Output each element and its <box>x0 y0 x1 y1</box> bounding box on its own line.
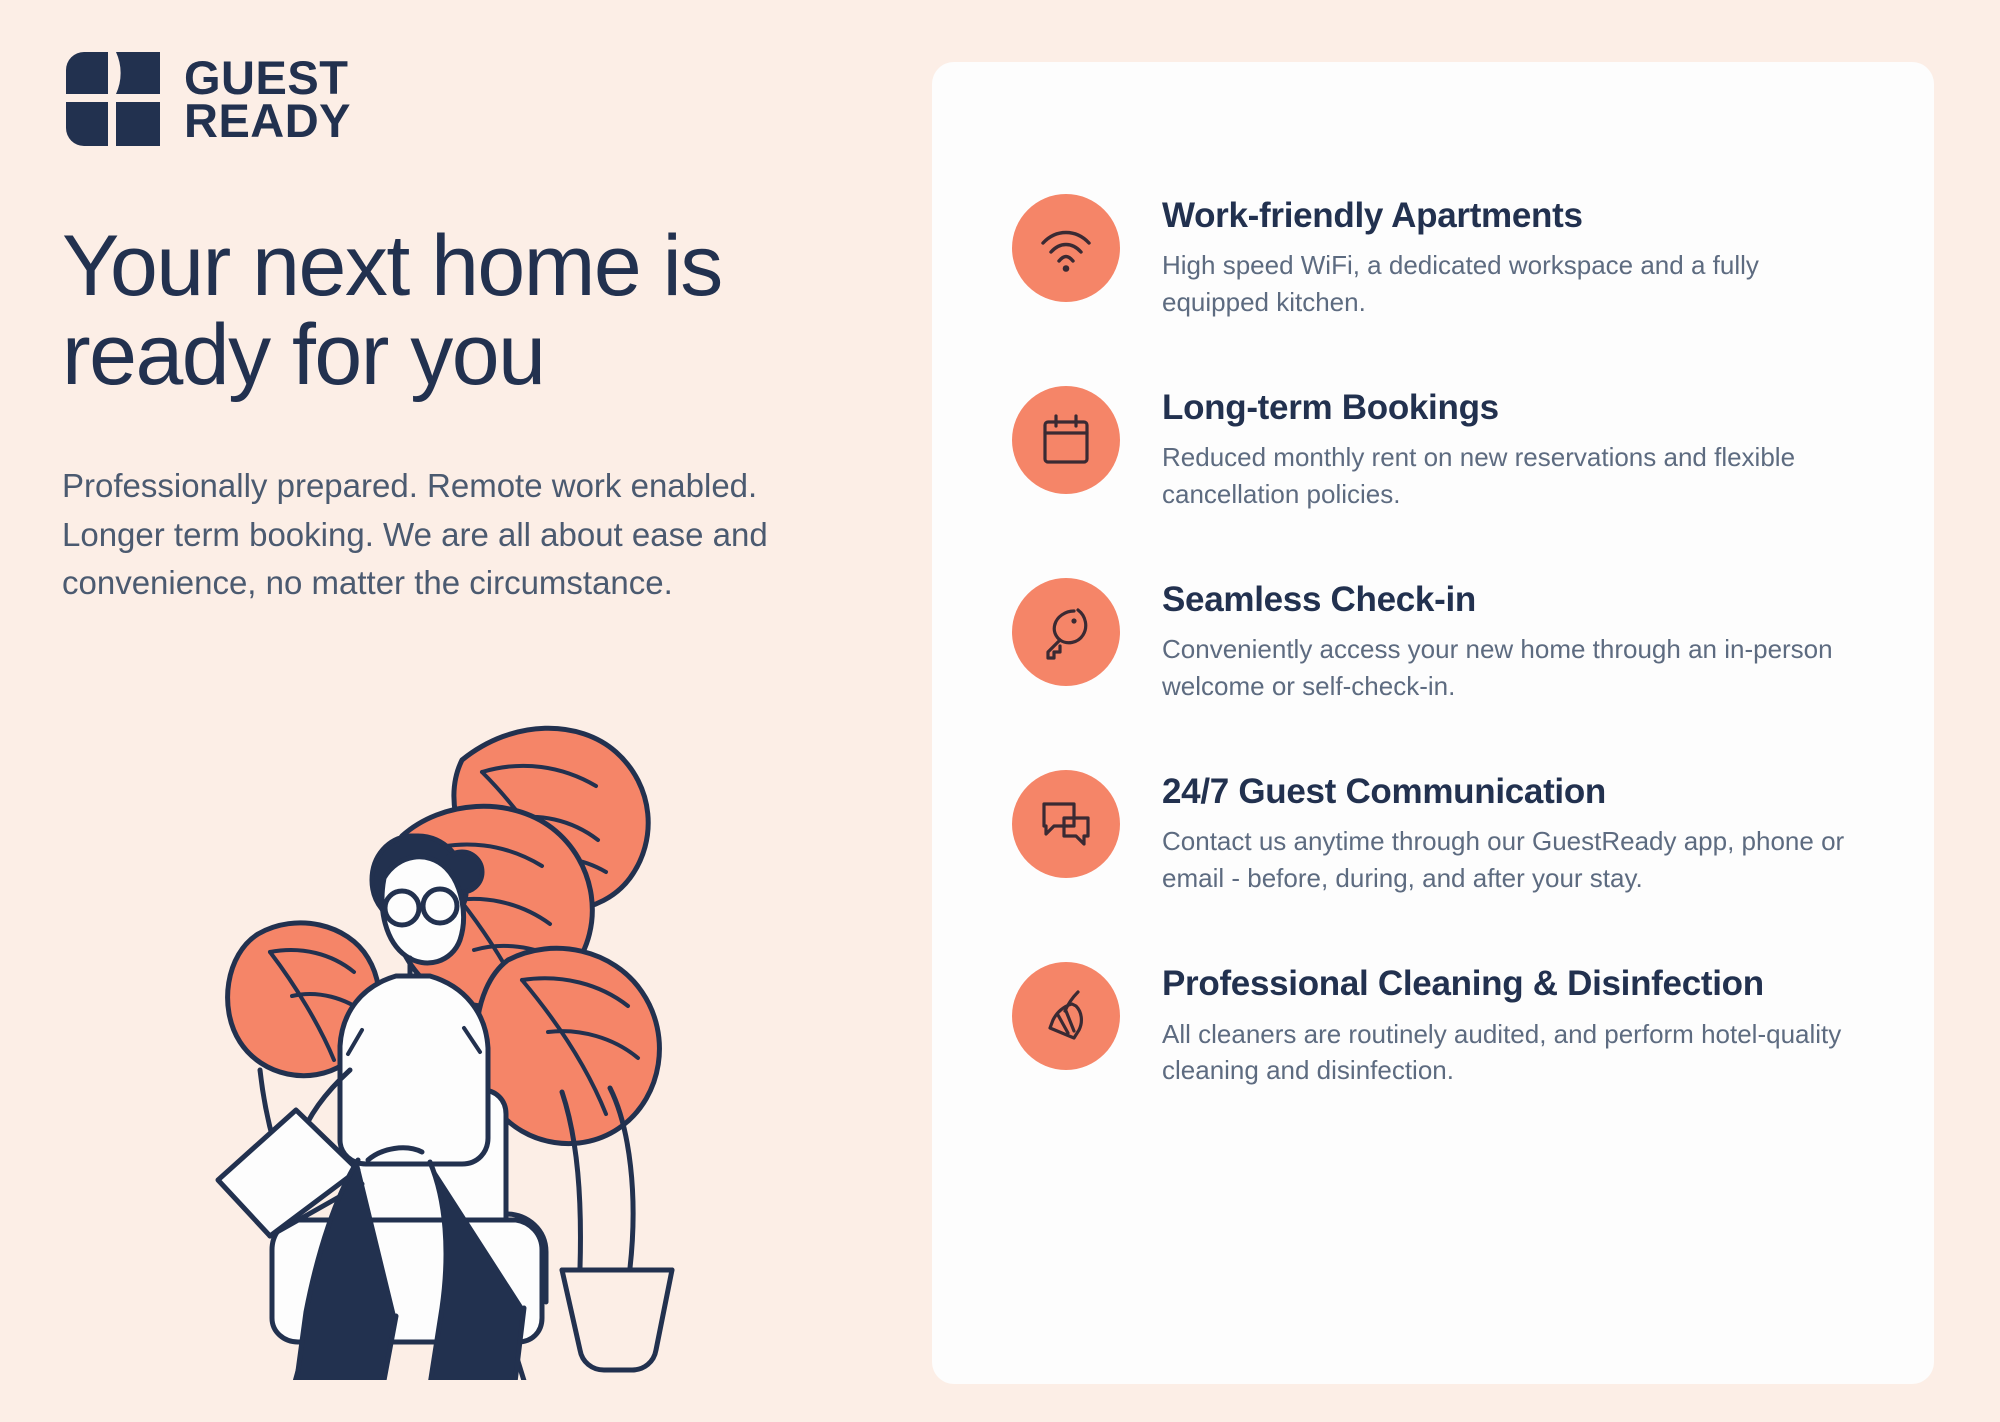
guestready-quadrant-logo-icon <box>62 48 164 150</box>
hero-subcopy: Professionally prepared. Remote work ena… <box>62 462 832 608</box>
features-card: Work-friendly Apartments High speed WiFi… <box>932 62 1934 1384</box>
feature-description: High speed WiFi, a dedicated workspace a… <box>1162 247 1862 321</box>
feature-text: Work-friendly Apartments High speed WiFi… <box>1162 190 1894 321</box>
calendar-icon <box>1012 386 1120 494</box>
feature-title: Work-friendly Apartments <box>1162 196 1894 236</box>
page-title: Your next home is ready for you <box>62 222 852 399</box>
feature-text: Seamless Check-in Conveniently access yo… <box>1162 574 1894 705</box>
feature-title: Seamless Check-in <box>1162 580 1894 620</box>
brand-name-line2: READY <box>184 99 351 142</box>
feature-list: Work-friendly Apartments High speed WiFi… <box>1012 190 1894 1089</box>
feature-text: Long-term Bookings Reduced monthly rent … <box>1162 382 1894 513</box>
feature-title: 24/7 Guest Communication <box>1162 772 1894 812</box>
broom-icon <box>1012 962 1120 1070</box>
feature-item-long-term-bookings[interactable]: Long-term Bookings Reduced monthly rent … <box>1012 382 1894 513</box>
hero-column: GUEST READY Your next home is ready for … <box>0 0 920 1422</box>
feature-title: Long-term Bookings <box>1162 388 1894 428</box>
feature-item-professional-cleaning[interactable]: Professional Cleaning & Disinfection All… <box>1012 958 1894 1089</box>
feature-description: Conveniently access your new home throug… <box>1162 631 1862 705</box>
feature-text: 24/7 Guest Communication Contact us anyt… <box>1162 766 1894 897</box>
feature-description: Contact us anytime through our GuestRead… <box>1162 823 1862 897</box>
brand-logo[interactable]: GUEST READY <box>62 48 351 150</box>
feature-description: Reduced monthly rent on new reservations… <box>1162 439 1862 513</box>
feature-text: Professional Cleaning & Disinfection All… <box>1162 958 1894 1089</box>
wifi-icon <box>1012 194 1120 302</box>
feature-title: Professional Cleaning & Disinfection <box>1162 964 1894 1004</box>
chat-bubbles-icon <box>1012 770 1120 878</box>
brand-wordmark: GUEST READY <box>184 56 351 142</box>
key-icon <box>1012 578 1120 686</box>
woman-with-laptop-in-armchair-with-plants-illustration <box>110 640 790 1380</box>
brand-name-line1: GUEST <box>184 56 351 99</box>
feature-item-guest-communication[interactable]: 24/7 Guest Communication Contact us anyt… <box>1012 766 1894 897</box>
feature-item-seamless-check-in[interactable]: Seamless Check-in Conveniently access yo… <box>1012 574 1894 705</box>
feature-description: All cleaners are routinely audited, and … <box>1162 1016 1862 1090</box>
feature-item-work-friendly-apartments[interactable]: Work-friendly Apartments High speed WiFi… <box>1012 190 1894 321</box>
